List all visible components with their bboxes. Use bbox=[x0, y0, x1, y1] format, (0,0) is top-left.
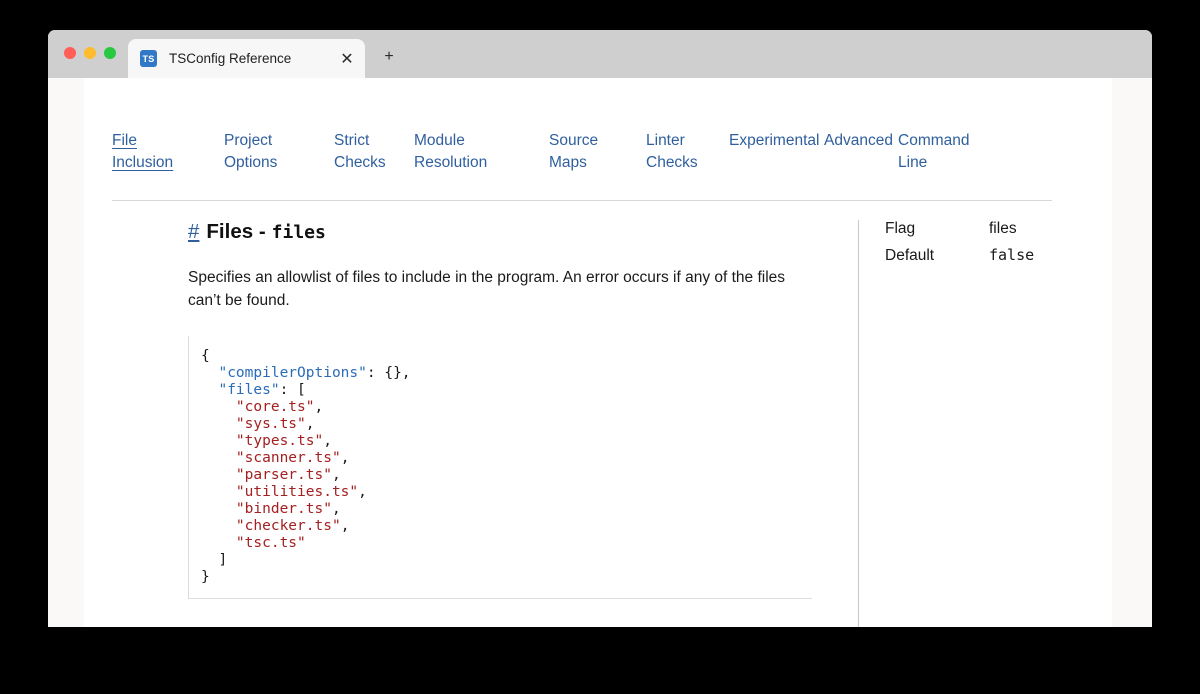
info-row: Default false bbox=[885, 246, 1108, 265]
nav-item-module-resolution[interactable]: Module Resolution bbox=[414, 130, 549, 174]
code-indent bbox=[201, 552, 218, 568]
nav-item-command-line[interactable]: Command Line bbox=[898, 130, 978, 174]
page-viewport: File Inclusion Project Options Strict Ch… bbox=[48, 78, 1152, 627]
heading-flag-name: files bbox=[272, 222, 326, 243]
code-token-punc: , bbox=[332, 467, 341, 483]
section-nav: File Inclusion Project Options Strict Ch… bbox=[112, 130, 1080, 174]
code-token-punc: , bbox=[341, 450, 350, 466]
code-indent bbox=[201, 365, 218, 381]
code-token-punc: : [ bbox=[280, 382, 306, 398]
code-token-punc: , bbox=[315, 399, 324, 415]
info-row: Flag files bbox=[885, 220, 1108, 238]
code-token-punc: ] bbox=[218, 552, 227, 568]
code-line: "scanner.ts", bbox=[201, 450, 812, 467]
code-indent bbox=[201, 382, 218, 398]
code-token-key: "compilerOptions" bbox=[218, 365, 366, 381]
maximize-window-button[interactable] bbox=[104, 47, 116, 59]
code-line: "tsc.ts" bbox=[201, 535, 812, 552]
nav-item-project-options[interactable]: Project Options bbox=[224, 130, 334, 174]
typescript-favicon-icon: TS bbox=[140, 50, 157, 67]
code-line: "core.ts", bbox=[201, 399, 812, 416]
code-indent bbox=[201, 535, 236, 551]
code-token-punc: , bbox=[332, 501, 341, 517]
page-title: # Files - files bbox=[188, 220, 828, 244]
code-token-punc: , bbox=[323, 433, 332, 449]
code-indent bbox=[201, 450, 236, 466]
code-indent bbox=[201, 399, 236, 415]
code-line: "binder.ts", bbox=[201, 501, 812, 518]
article: # Files - files Specifies an allowlist o… bbox=[188, 220, 828, 627]
nav-item-linter-checks[interactable]: Linter Checks bbox=[646, 130, 729, 174]
code-line: "types.ts", bbox=[201, 433, 812, 450]
code-token-punc: } bbox=[201, 569, 210, 585]
heading-anchor-link[interactable]: # bbox=[188, 220, 199, 244]
code-line: "checker.ts", bbox=[201, 518, 812, 535]
code-line: { bbox=[201, 348, 812, 365]
minimize-window-button[interactable] bbox=[84, 47, 96, 59]
info-label-default: Default bbox=[885, 247, 989, 265]
nav-item-experimental[interactable]: Experimental bbox=[729, 130, 824, 174]
code-line: "files": [ bbox=[201, 382, 812, 399]
code-token-punc: , bbox=[306, 416, 315, 432]
close-tab-icon[interactable]: ✕ bbox=[335, 47, 359, 71]
browser-window: TS TSConfig Reference ✕ + File Inclusion… bbox=[48, 30, 1152, 627]
code-block: { "compilerOptions": {}, "files": [ "cor… bbox=[188, 336, 812, 599]
close-window-button[interactable] bbox=[64, 47, 76, 59]
code-token-str: "tsc.ts" bbox=[236, 535, 306, 551]
window-controls bbox=[64, 47, 116, 59]
code-token-str: "core.ts" bbox=[236, 399, 315, 415]
code-token-key: "files" bbox=[218, 382, 279, 398]
code-token-punc: { bbox=[201, 348, 210, 364]
code-token-str: "utilities.ts" bbox=[236, 484, 358, 500]
code-line: ] bbox=[201, 552, 812, 569]
code-line: "sys.ts", bbox=[201, 416, 812, 433]
flag-info-panel: Flag files Default false bbox=[858, 220, 1108, 627]
code-token-str: "types.ts" bbox=[236, 433, 323, 449]
code-token-str: "parser.ts" bbox=[236, 467, 332, 483]
new-tab-icon[interactable]: + bbox=[378, 46, 400, 68]
code-indent bbox=[201, 518, 236, 534]
code-token-punc: , bbox=[358, 484, 367, 500]
code-token-punc: : {}, bbox=[367, 365, 411, 381]
code-token-punc: , bbox=[341, 518, 350, 534]
info-label-flag: Flag bbox=[885, 220, 989, 238]
code-line: } bbox=[201, 569, 812, 586]
info-value-default: false bbox=[989, 246, 1034, 264]
code-indent bbox=[201, 501, 236, 517]
description-text: Specifies an allowlist of files to inclu… bbox=[188, 266, 818, 312]
nav-item-file-inclusion[interactable]: File Inclusion bbox=[112, 130, 224, 174]
browser-tab-strip: TS TSConfig Reference ✕ + bbox=[48, 30, 1152, 78]
code-token-str: "checker.ts" bbox=[236, 518, 341, 534]
nav-item-strict-checks[interactable]: Strict Checks bbox=[334, 130, 414, 174]
code-indent bbox=[201, 467, 236, 483]
code-line: "utilities.ts", bbox=[201, 484, 812, 501]
nav-divider bbox=[112, 200, 1052, 201]
code-line: "compilerOptions": {}, bbox=[201, 365, 812, 382]
code-indent bbox=[201, 416, 236, 432]
code-indent bbox=[201, 484, 236, 500]
code-token-str: "sys.ts" bbox=[236, 416, 306, 432]
info-value-flag: files bbox=[989, 220, 1017, 238]
heading-text: Files - bbox=[206, 220, 265, 244]
code-token-str: "scanner.ts" bbox=[236, 450, 341, 466]
code-line: "parser.ts", bbox=[201, 467, 812, 484]
nav-item-advanced[interactable]: Advanced bbox=[824, 130, 898, 174]
code-token-str: "binder.ts" bbox=[236, 501, 332, 517]
nav-item-source-maps[interactable]: Source Maps bbox=[549, 130, 646, 174]
browser-tab[interactable]: TS TSConfig Reference ✕ bbox=[128, 39, 365, 78]
code-indent bbox=[201, 433, 236, 449]
tab-title: TSConfig Reference bbox=[169, 51, 335, 66]
page-canvas: File Inclusion Project Options Strict Ch… bbox=[84, 78, 1112, 627]
